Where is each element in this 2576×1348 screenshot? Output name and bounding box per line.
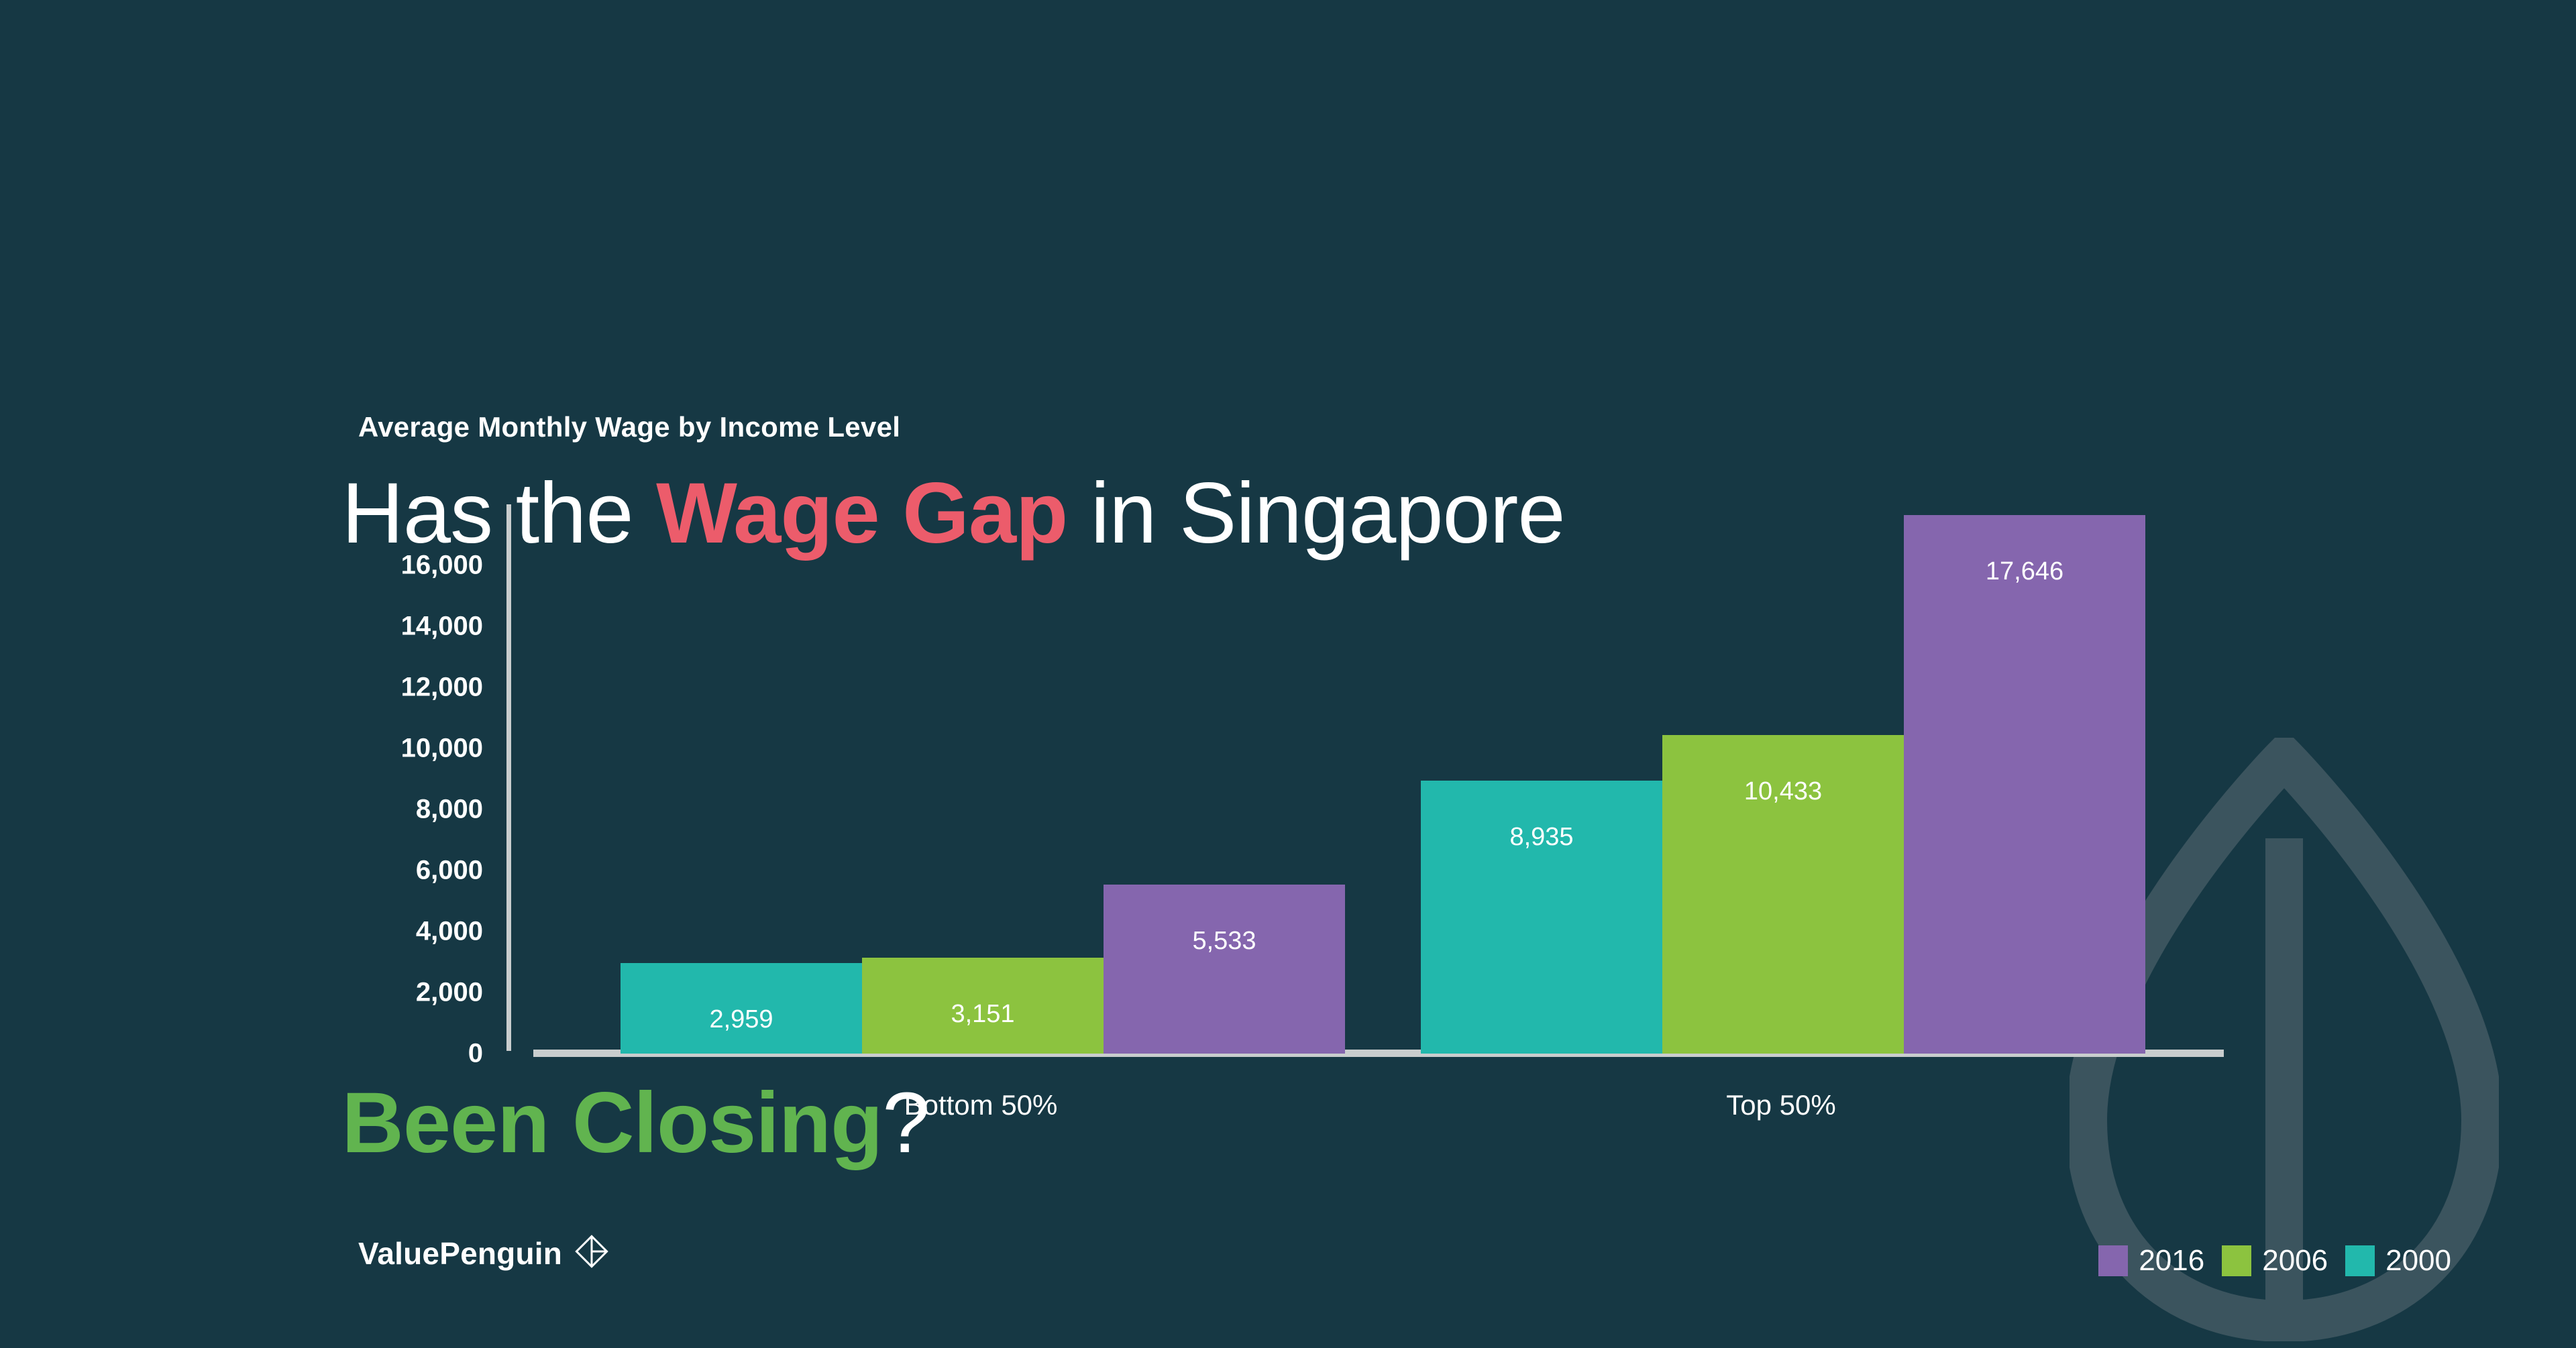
bar: 5,533 [1104,885,1345,1054]
infographic-canvas: Has the Wage Gap in Singapore Been Closi… [0,0,2576,1348]
y-axis-tick-label: 4,000 [282,917,483,947]
title-segment-accent-red: Wage Gap [656,465,1067,561]
bar-value-label: 3,151 [862,1000,1104,1029]
legend-swatch-icon [2345,1245,2375,1276]
y-axis-tick-label: 16,000 [282,551,483,581]
x-axis-category-label: Bottom 50% [904,1089,1058,1121]
bar: 17,646 [1904,515,2145,1054]
bar-value-label: 2,959 [621,1005,862,1034]
bar-value-label: 5,533 [1104,927,1345,956]
bar-value-label: 17,646 [1904,557,2145,586]
bar: 3,151 [862,958,1104,1054]
legend-label: 2016 [2139,1244,2204,1278]
y-axis-tick-label: 12,000 [282,673,483,703]
valuepenguin-diamond-icon [574,1234,609,1272]
y-axis-tick-label: 8,000 [282,795,483,825]
bar: 8,935 [1421,781,1662,1054]
legend-item[interactable]: 2006 [2222,1244,2328,1278]
legend-item[interactable]: 2016 [2098,1244,2204,1278]
chart-legend: 201620062000 [2098,1244,2451,1278]
legend-label: 2000 [2385,1244,2451,1278]
brand-logo: ValuePenguin [358,1234,609,1272]
x-axis-category-label: Top 50% [1726,1089,1835,1121]
bar-value-label: 8,935 [1421,823,1662,852]
y-axis-tick-label: 10,000 [282,734,483,764]
bar-value-label: 10,433 [1662,777,1904,806]
bar: 2,959 [621,963,862,1054]
legend-item[interactable]: 2000 [2345,1244,2451,1278]
y-axis-tick-label: 0 [282,1039,483,1069]
legend-swatch-icon [2098,1245,2128,1276]
y-axis-line [506,504,511,1051]
brand-name: ValuePenguin [358,1235,562,1272]
title-segment: in Singapore [1067,465,1564,561]
legend-label: 2006 [2262,1244,2328,1278]
y-axis-tick-labels: 02,0004,0006,0008,00010,00012,00014,0001… [282,0,483,1348]
y-axis-tick-label: 2,000 [282,978,483,1008]
legend-swatch-icon [2222,1245,2251,1276]
y-axis-tick-label: 14,000 [282,612,483,642]
bar: 10,433 [1662,735,1904,1054]
y-axis-tick-label: 6,000 [282,856,483,886]
